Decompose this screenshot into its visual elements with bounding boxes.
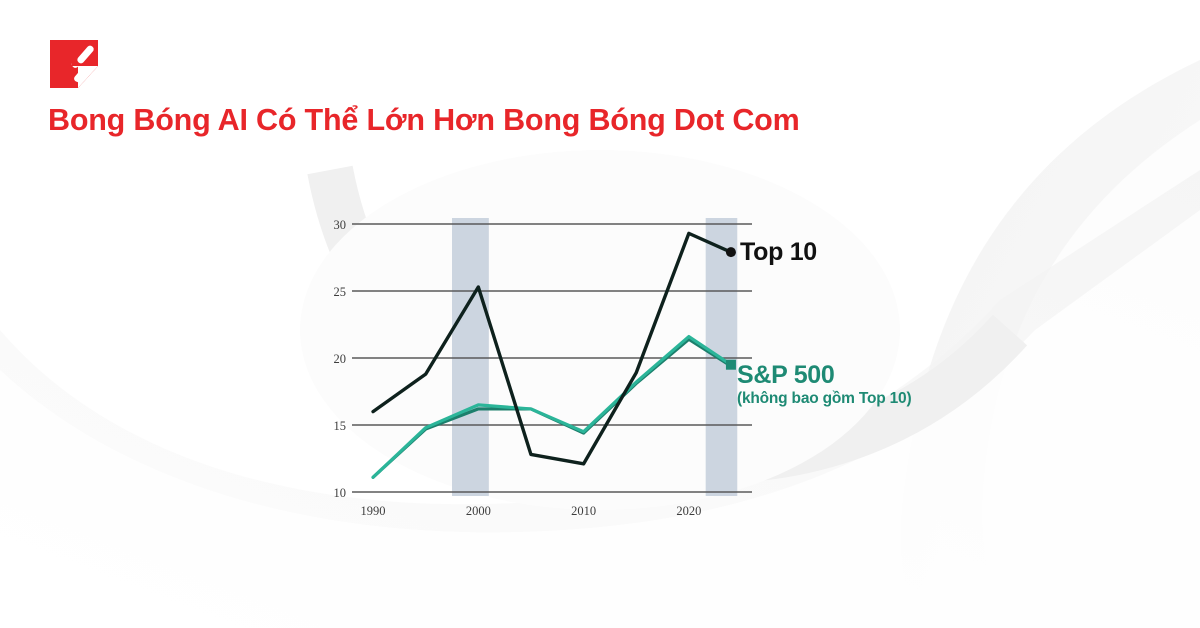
legend-label-sp500-main: S&P 500 xyxy=(737,362,911,388)
svg-text:30: 30 xyxy=(334,218,347,232)
chart-x-axis-labels: 1990 2000 2010 2020 xyxy=(361,504,702,518)
svg-text:2020: 2020 xyxy=(676,504,701,518)
chart-gridlines xyxy=(352,224,752,492)
legend-label-sp500: S&P 500 (không bao gồm Top 10) xyxy=(737,362,911,408)
svg-text:2000: 2000 xyxy=(466,504,491,518)
line-chart: 30 25 20 15 10 1990 2000 2010 2020 xyxy=(0,0,1200,628)
endpoint-marker-top10 xyxy=(726,247,736,257)
svg-text:1990: 1990 xyxy=(361,504,386,518)
svg-text:20: 20 xyxy=(334,352,347,366)
chart-y-axis-labels: 30 25 20 15 10 xyxy=(334,218,347,500)
svg-text:10: 10 xyxy=(334,486,347,500)
page-title: Bong Bóng AI Có Thể Lớn Hơn Bong Bóng Do… xyxy=(48,103,800,138)
svg-text:15: 15 xyxy=(334,419,347,433)
chart-shaded-bands xyxy=(452,218,737,496)
legend-label-top10: Top 10 xyxy=(740,238,817,267)
legend-label-sp500-sub: (không bao gồm Top 10) xyxy=(737,390,911,408)
svg-text:25: 25 xyxy=(334,285,347,299)
svg-text:2010: 2010 xyxy=(571,504,596,518)
endpoint-marker-sp500 xyxy=(726,360,736,370)
brand-logo-icon[interactable] xyxy=(48,38,100,90)
infographic-canvas: Bong Bóng AI Có Thể Lớn Hơn Bong Bóng Do… xyxy=(0,0,1200,628)
